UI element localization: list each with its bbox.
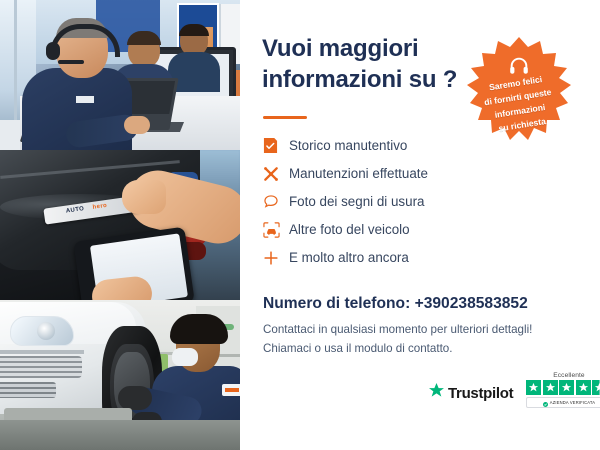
star-4 — [576, 380, 591, 395]
technician-hand — [122, 180, 166, 214]
document-check-icon — [263, 135, 289, 157]
feature-item-maintenance-done: Manutenzioni effettuate — [263, 160, 563, 187]
lower-grille — [0, 382, 56, 398]
verified-check-icon — [543, 394, 548, 412]
verified-label: AZIENDA VERIFICATA — [550, 400, 595, 405]
trustpilot-star-icon — [428, 382, 445, 404]
agent-background-2 — [168, 26, 220, 70]
feature-item-vehicle-photos: Altre foto del veicolo — [263, 216, 563, 243]
headlight — [10, 316, 74, 346]
rating-label: Eccellente — [526, 372, 600, 379]
trustpilot-logo: Trustpilot — [428, 382, 513, 404]
car-focus-frame-icon — [263, 219, 289, 241]
feature-item-wear-photos: Foto dei segni di usura — [263, 188, 563, 215]
contact-subtext: Contattaci in qualsiasi momento per ulte… — [263, 321, 583, 359]
tools-wrench-icon — [263, 163, 289, 185]
feature-label: Foto dei segni di usura — [289, 194, 424, 209]
star-5-half — [592, 380, 600, 395]
feature-list: Storico manutentivo Manutenzioni effettu… — [263, 132, 563, 272]
star-1 — [526, 380, 541, 395]
content-panel: Vuoi maggiori informazioni su ? Saremo f… — [240, 0, 600, 450]
feature-label: Manutenzioni effettuate — [289, 166, 428, 181]
verified-business-badge: AZIENDA VERIFICATA — [526, 397, 600, 408]
call-center-agents-photo — [0, 0, 240, 150]
front-grille — [0, 356, 82, 378]
photo-column: AUTOhero — [0, 0, 240, 450]
feature-item-more: E molto altro ancora — [263, 244, 563, 271]
page-title-line-2: informazioni su ? — [262, 66, 457, 93]
car-inspection-tablet-photo: AUTOhero — [0, 150, 240, 300]
trustpilot-wordmark: Trustpilot — [448, 385, 513, 402]
speech-bubble-icon — [263, 191, 289, 213]
lift-platform — [0, 420, 240, 450]
feature-label: Storico manutentivo — [289, 138, 407, 153]
trustpilot-widget[interactable]: Trustpilot Eccellente — [428, 372, 588, 420]
page-title: Vuoi maggiori informazioni su ? — [262, 33, 482, 95]
chrome-trim — [0, 350, 84, 354]
phone-number-label[interactable]: Numero di telefono: +390238583852 — [263, 295, 583, 313]
feature-label: E molto altro ancora — [289, 250, 409, 265]
mechanic-wheel-lift-photo — [0, 300, 240, 450]
agent-foreground — [22, 20, 132, 150]
headset-icon — [508, 55, 530, 77]
plus-icon — [263, 247, 289, 269]
feature-item-service-history: Storico manutentivo — [263, 132, 563, 159]
rating-stars — [526, 380, 600, 395]
promo-banner: AUTOhero — [0, 0, 600, 450]
star-3 — [559, 380, 574, 395]
contact-subtext-line-2: Chiamaci o usa il modulo di contatto. — [263, 340, 583, 359]
title-divider — [263, 116, 307, 119]
trustpilot-rating: Eccellente — [526, 372, 600, 408]
page-title-line-1: Vuoi maggiori — [262, 35, 419, 62]
contact-subtext-line-1: Contattaci in qualsiasi momento per ulte… — [263, 321, 583, 340]
feature-label: Altre foto del veicolo — [289, 222, 410, 237]
